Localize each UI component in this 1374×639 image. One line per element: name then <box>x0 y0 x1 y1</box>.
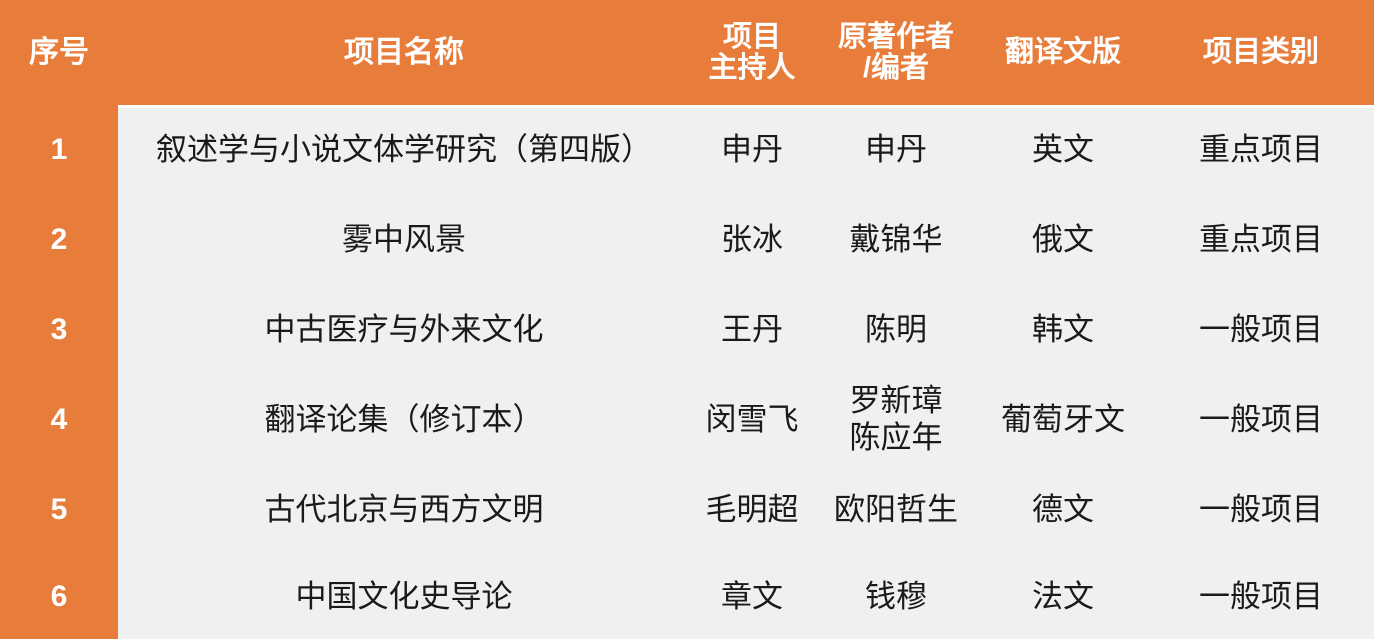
cell-name: 中国文化史导论 <box>118 579 690 616</box>
cell-seq: 5 <box>0 492 118 527</box>
cell-author: 戴锦华 <box>814 222 978 259</box>
table-row: 2 雾中风景 张冰 戴锦华 俄文 重点项目 <box>0 195 1374 285</box>
cell-category: 一般项目 <box>1148 579 1374 616</box>
cell-name: 叙述学与小说文体学研究（第四版） <box>118 132 690 169</box>
cell-seq: 6 <box>0 579 118 614</box>
cell-seq: 4 <box>0 402 118 437</box>
cell-language: 韩文 <box>978 312 1148 349</box>
cell-host: 王丹 <box>690 312 814 349</box>
project-table: 序号 项目名称 项目 主持人 原著作者 /编者 翻译文版 项目类别 1 叙述学与… <box>0 0 1374 639</box>
cell-author: 罗新璋 陈应年 <box>814 383 978 456</box>
cell-host: 章文 <box>690 579 814 616</box>
cell-author: 申丹 <box>814 132 978 169</box>
cell-name: 翻译论集（修订本） <box>118 402 690 439</box>
cell-category: 一般项目 <box>1148 492 1374 529</box>
cell-host: 申丹 <box>690 132 814 169</box>
cell-category: 重点项目 <box>1148 222 1374 259</box>
cell-language: 俄文 <box>978 222 1148 259</box>
cell-author: 钱穆 <box>814 579 978 616</box>
cell-language: 葡萄牙文 <box>978 402 1148 439</box>
cell-author: 陈明 <box>814 312 978 349</box>
cell-category: 重点项目 <box>1148 132 1374 169</box>
table-body: 1 叙述学与小说文体学研究（第四版） 申丹 申丹 英文 重点项目 2 雾中风景 … <box>0 105 1374 639</box>
cell-language: 法文 <box>978 579 1148 616</box>
column-header-host: 项目 主持人 <box>690 22 814 83</box>
cell-name: 雾中风景 <box>118 222 690 259</box>
table-row: 1 叙述学与小说文体学研究（第四版） 申丹 申丹 英文 重点项目 <box>0 105 1374 195</box>
cell-host: 闵雪飞 <box>690 402 814 439</box>
cell-host: 毛明超 <box>690 492 814 529</box>
cell-category: 一般项目 <box>1148 312 1374 349</box>
cell-seq: 3 <box>0 312 118 347</box>
column-header-category: 项目类别 <box>1148 37 1374 68</box>
table-row: 5 古代北京与西方文明 毛明超 欧阳哲生 德文 一般项目 <box>0 465 1374 555</box>
cell-host: 张冰 <box>690 222 814 259</box>
column-header-language: 翻译文版 <box>978 37 1148 68</box>
cell-name: 中古医疗与外来文化 <box>118 312 690 349</box>
table-row: 4 翻译论集（修订本） 闵雪飞 罗新璋 陈应年 葡萄牙文 一般项目 <box>0 375 1374 465</box>
cell-seq: 2 <box>0 222 118 257</box>
column-header-name: 项目名称 <box>118 37 690 69</box>
cell-category: 一般项目 <box>1148 402 1374 439</box>
cell-language: 德文 <box>978 492 1148 529</box>
cell-language: 英文 <box>978 132 1148 169</box>
column-header-author: 原著作者 /编者 <box>814 22 978 83</box>
cell-author: 欧阳哲生 <box>814 492 978 529</box>
table-row: 6 中国文化史导论 章文 钱穆 法文 一般项目 <box>0 555 1374 639</box>
cell-name: 古代北京与西方文明 <box>118 492 690 529</box>
table-row: 3 中古医疗与外来文化 王丹 陈明 韩文 一般项目 <box>0 285 1374 375</box>
cell-seq: 1 <box>0 132 118 167</box>
table-header-row: 序号 项目名称 项目 主持人 原著作者 /编者 翻译文版 项目类别 <box>0 0 1374 105</box>
column-header-seq: 序号 <box>0 37 118 69</box>
